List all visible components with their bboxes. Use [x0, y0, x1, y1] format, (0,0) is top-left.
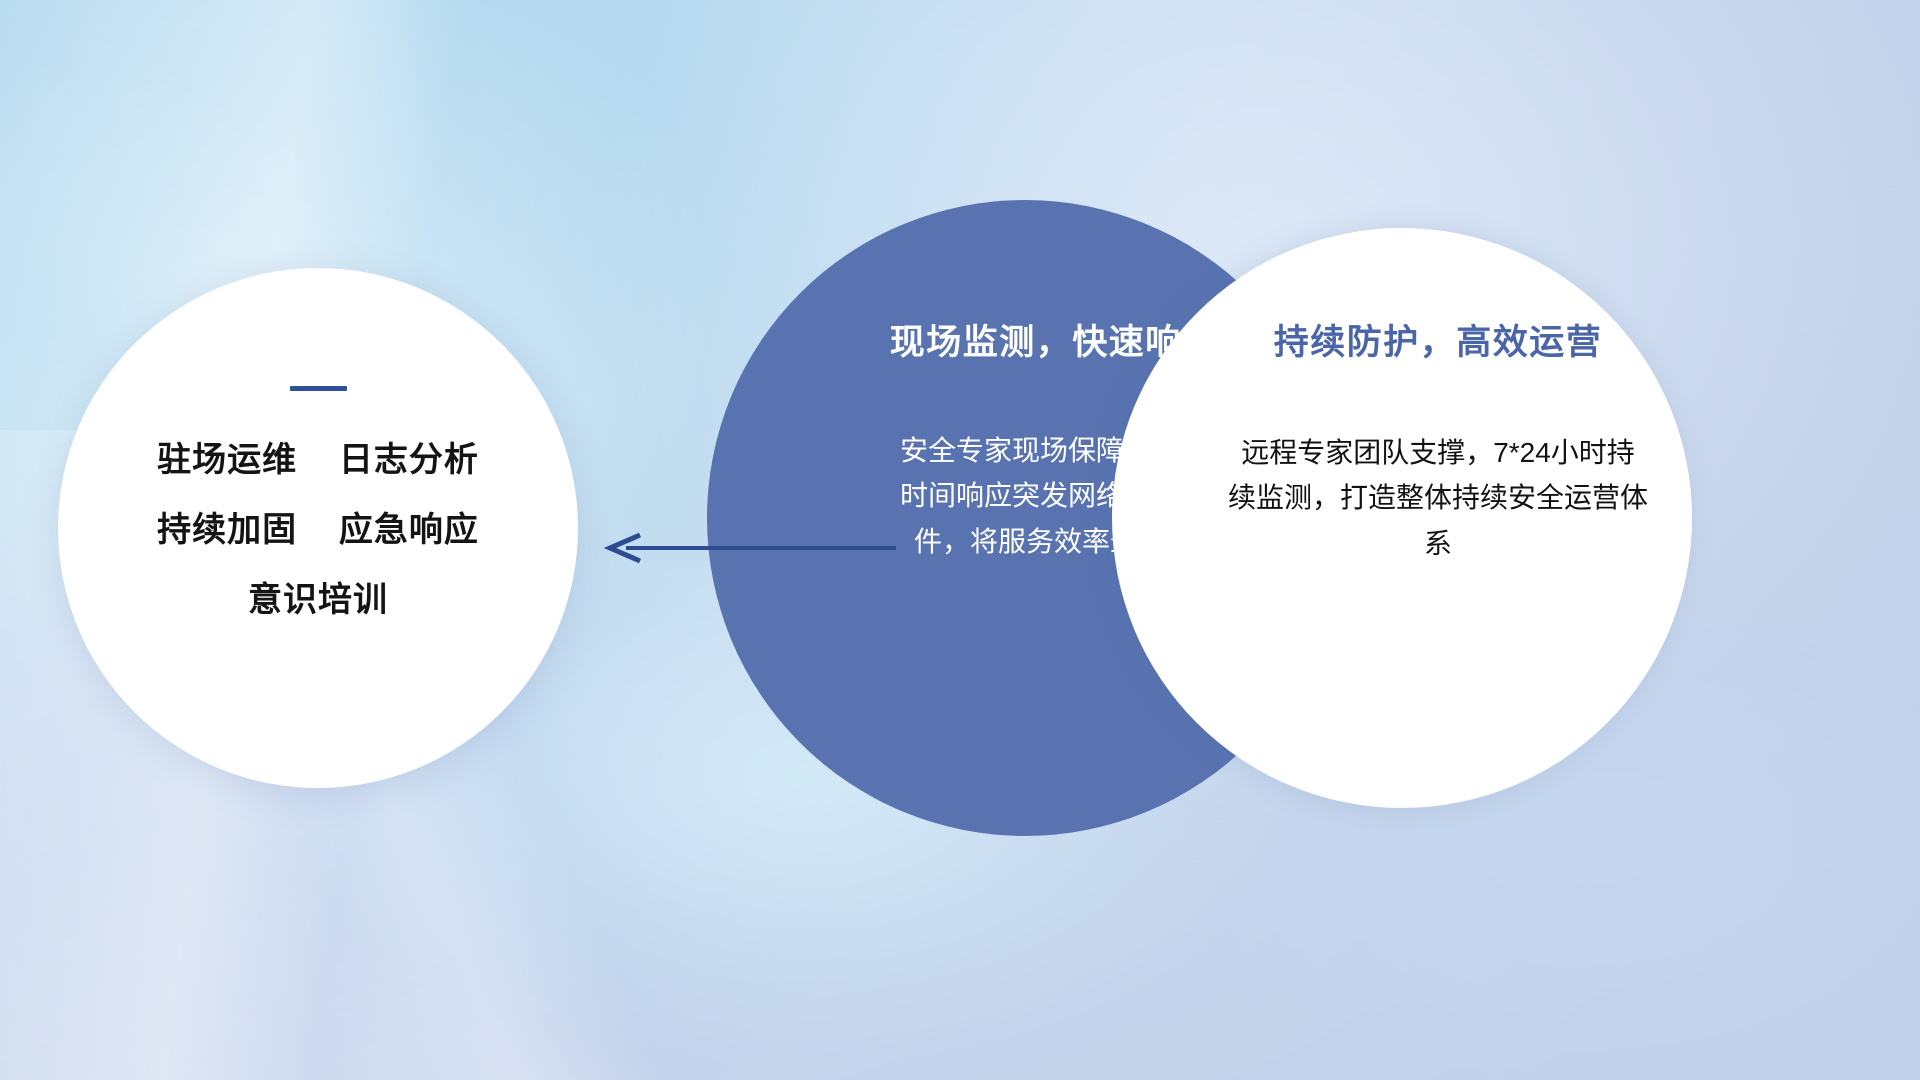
right-circle-body: 远程专家团队支撑，7*24小时持续监测，打造整体持续安全运营体系 [1228, 430, 1648, 566]
right-circle-content: 持续防护，高效运营 远程专家团队支撑，7*24小时持续监测，打造整体持续安全运营… [1112, 228, 1692, 808]
right-circle-title: 持续防护，高效运营 [1274, 322, 1603, 364]
left-circle-line-2: 持续加固 应急响应 [157, 513, 479, 547]
left-circle-content: 驻场运维 日志分析 持续加固 应急响应 意识培训 [58, 268, 578, 788]
left-circle-line-1: 驻场运维 日志分析 [157, 443, 479, 477]
section-divider-dash [290, 386, 347, 391]
slide-canvas: 驻场运维 日志分析 持续加固 应急响应 意识培训 现场监测，快速响应 安全专家现… [0, 0, 1920, 1080]
left-circle-line-3: 意识培训 [248, 583, 388, 617]
